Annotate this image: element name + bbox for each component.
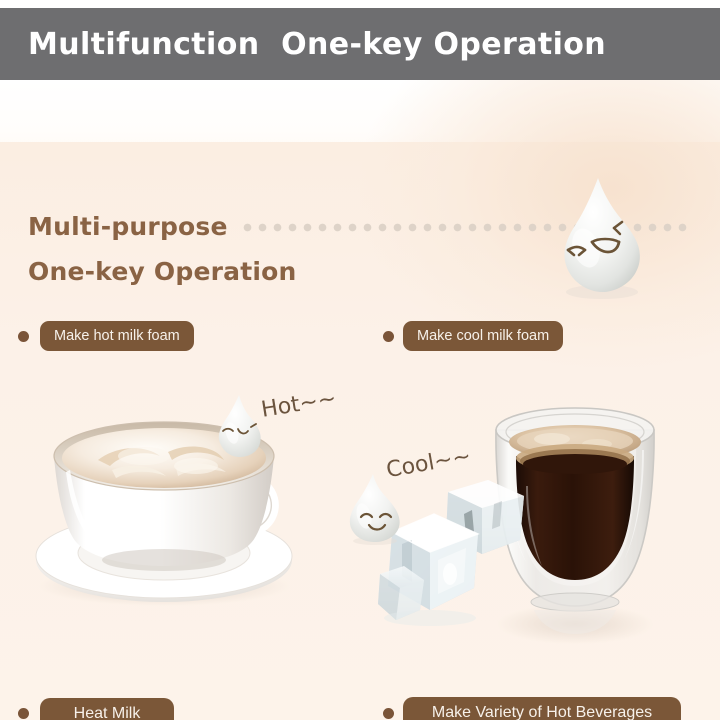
heading-line-2: One-key Operation (28, 257, 297, 286)
content-panel: Multi-purpose One-key Operation (0, 80, 720, 720)
feature-pill-hot-milk-foam[interactable]: Make hot milk foam (40, 321, 194, 351)
page-title: Multifunction One-key Operation (0, 27, 606, 62)
bullet-dot-cool-milk-foam (383, 331, 394, 342)
header-banner: Multifunction One-key Operation (0, 8, 720, 80)
foam-droplet-winking-icon (552, 176, 648, 298)
foam-droplet-smiling-icon (345, 472, 405, 544)
feature-pill-heat-milk[interactable]: Heat Milk (40, 698, 174, 720)
bullet-dot-hot-beverages (383, 708, 394, 719)
feature-pill-cool-milk-foam[interactable]: Make cool milk foam (403, 321, 563, 351)
feature-pill-hot-beverages[interactable]: Make Variety of Hot Beverages (403, 697, 681, 720)
bullet-dot-hot-milk-foam (18, 331, 29, 342)
heading-line-1: Multi-purpose (28, 212, 228, 241)
promo-page: Multifunction One-key Operation Multi-pu… (0, 0, 720, 720)
bullet-dot-heat-milk (18, 708, 29, 719)
foam-droplet-icon (214, 393, 266, 459)
